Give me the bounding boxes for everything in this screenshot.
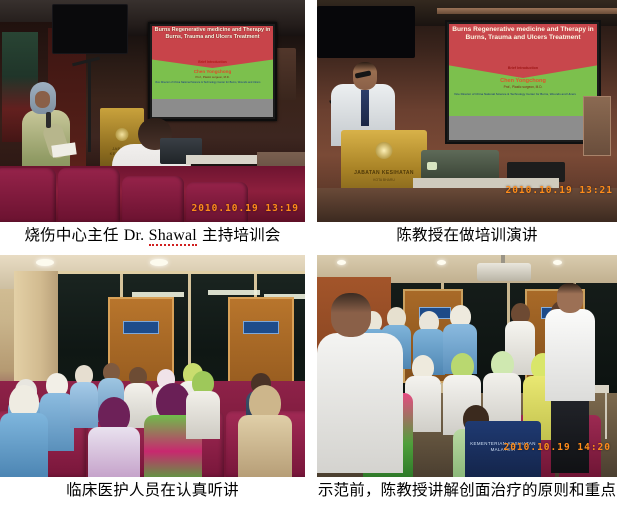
attendee [186, 371, 220, 437]
wall-tv [317, 6, 415, 58]
seat [186, 182, 248, 222]
photo-audience [0, 255, 305, 477]
caption-part-misspelled-name: Shawal [149, 227, 197, 246]
slide-subtitle: Brief Introduction [154, 60, 271, 64]
professor-shirt [545, 309, 595, 401]
ceiling-light-icon [337, 260, 346, 265]
photo-lecture-host-image: Burns Regenerative medicine and Therapy … [0, 0, 305, 222]
camera-timestamp: 2010.10.19 13:21 [505, 185, 613, 196]
light-strip [208, 290, 260, 295]
attendee [238, 385, 292, 477]
caption-part-latin-prefix: Dr. [124, 227, 149, 244]
slide-title: Burns Regenerative medicine and Therapy … [452, 26, 594, 42]
caption-cell-1: 烧伤中心主任 Dr. Shawal 主持培训会 [0, 222, 305, 255]
projection-screen: Burns Regenerative medicine and Therapy … [445, 20, 601, 144]
column-gap [305, 0, 317, 222]
attendee [0, 385, 48, 477]
slide-subtitle: Brief Introduction [452, 66, 594, 70]
foreground-man-shirt [317, 333, 403, 473]
photo-audience-image [0, 255, 305, 477]
camera-timestamp: 2010.10.19 14:20 [503, 442, 611, 453]
ceiling-light-icon [150, 259, 168, 266]
attendee [88, 397, 140, 477]
professor-head [557, 283, 583, 313]
foreground-man-head [331, 293, 371, 337]
screen-roller [437, 8, 617, 14]
caption-part-after: 主持培训会 [197, 226, 281, 244]
ceiling-light-icon [36, 259, 54, 266]
slide-presenter-role: Prof., Plastic surgeon, M.D. [452, 85, 594, 89]
slide-title: Burns Regenerative medicine and Therapy … [154, 27, 271, 40]
slide-presenter-name: Chen Yongchong [452, 78, 594, 84]
column-gap [305, 222, 317, 255]
caption-cell-3: 临床医护人员在认真听讲 [0, 477, 305, 511]
wall-tv [52, 4, 128, 54]
wall-panel [583, 96, 611, 156]
caption-part-before: 烧伤中心主任 [24, 226, 123, 244]
podium-text: JABATAN KESIHATAN [341, 170, 427, 176]
caption-cell-2: 陈教授在做培训演讲 [317, 222, 617, 255]
photo-demo-explanation: KEMENTERIAN KESIHATAN MALAYSIA 2010.10.1… [317, 255, 617, 477]
caption-cell-4: 示范前，陈教授讲解创面治疗的原则和重点 [317, 477, 617, 511]
speaker-woman-face [35, 91, 50, 108]
photo-report-page: Burns Regenerative medicine and Therapy … [0, 0, 617, 511]
ceiling-light-icon [437, 260, 446, 265]
caption-professor-lecture: 陈教授在做培训演讲 [396, 225, 537, 245]
caption-audience: 临床医护人员在认真听讲 [66, 480, 239, 500]
ceiling-projector [477, 263, 531, 281]
photo-demo-explanation-image: KEMENTERIAN KESIHATAN MALAYSIA 2010.10.1… [317, 255, 617, 477]
slide-presenter-role: Prof., Plastic surgeon, M.D. [154, 75, 271, 79]
slide-footer-band [152, 99, 273, 117]
photo-professor-lecture-image: Burns Regenerative medicine and Therapy … [317, 0, 617, 222]
professor-tie [361, 90, 369, 126]
camera-timestamp: 2010.10.19 13:19 [191, 203, 299, 214]
photo-lecture-host: Burns Regenerative medicine and Therapy … [0, 0, 305, 222]
caption-lecture-host: 烧伤中心主任 Dr. Shawal 主持培训会 [24, 225, 280, 246]
attendee-body [238, 415, 292, 477]
photo-professor-lecture: Burns Regenerative medicine and Therapy … [317, 0, 617, 222]
foreground-man-left [317, 293, 403, 473]
slide-presenter-name: Chen Yongchong [154, 69, 271, 74]
microphone-stand [88, 62, 91, 152]
handheld-microphone [46, 112, 51, 128]
column-gap [305, 477, 317, 511]
door-sign [123, 321, 159, 334]
column-gap [305, 255, 317, 477]
attendee-body [88, 427, 140, 477]
slide-bullets: Vice Director of China National Science … [155, 81, 270, 84]
ceiling-light-icon [553, 260, 562, 265]
projection-screen: Burns Regenerative medicine and Therapy … [148, 22, 277, 121]
slide-footer-band [449, 116, 597, 140]
projector [421, 150, 499, 180]
photo-grid: Burns Regenerative medicine and Therapy … [0, 0, 617, 511]
attendee-body [0, 413, 48, 477]
door-sign [243, 321, 279, 334]
caption-demo-explanation: 示范前，陈教授讲解创面治疗的原则和重点 [318, 480, 616, 500]
projector-lens-icon [427, 162, 437, 170]
seat [0, 168, 56, 222]
slide-bullets: Vice Director of China National Science … [454, 92, 592, 96]
professor-trousers [551, 397, 589, 473]
seat [122, 176, 184, 222]
podium-emblem-icon [376, 142, 393, 159]
seat [58, 168, 120, 222]
attendee-body [186, 391, 220, 439]
